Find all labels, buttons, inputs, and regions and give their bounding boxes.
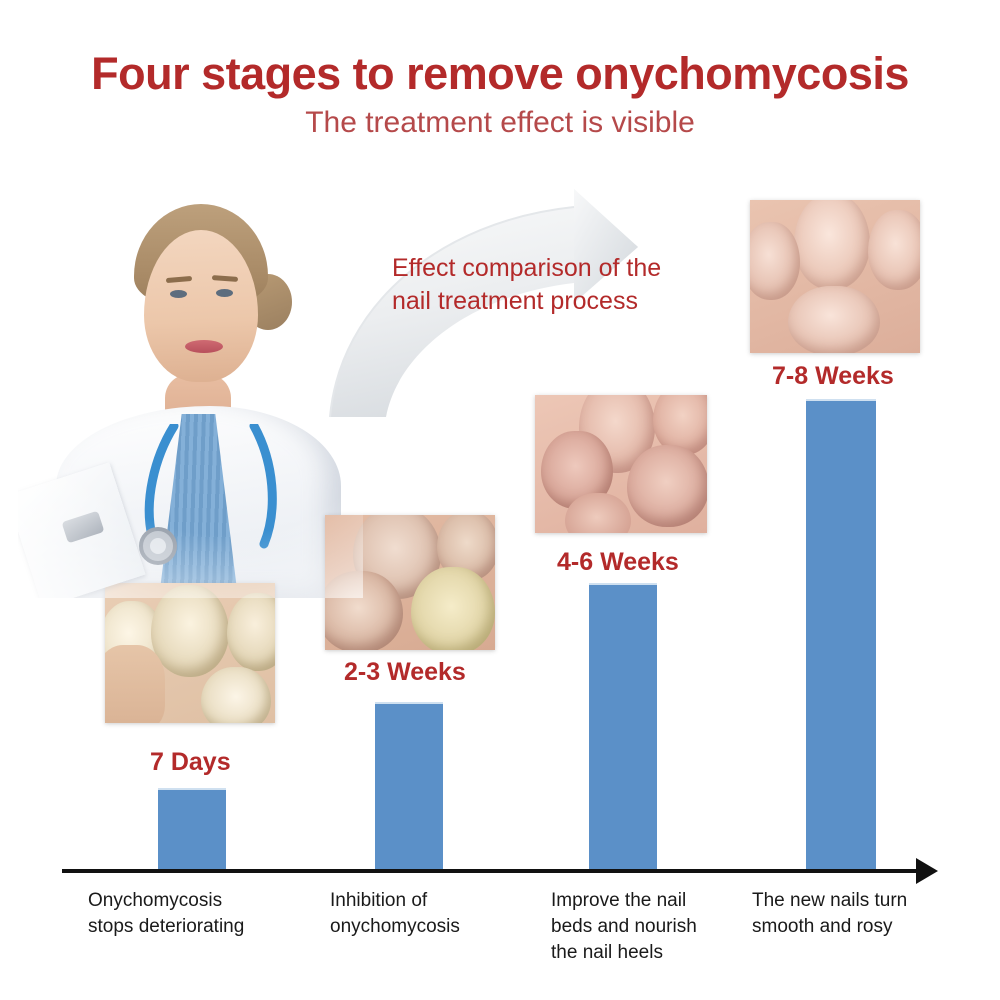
infographic-canvas: Four stages to remove onychomycosis The … [0,0,1000,1000]
stage-label-3: 4-6 Weeks [557,548,679,577]
nail-photo-stage-4 [750,200,920,353]
bar-stage-4 [806,399,876,873]
axis-arrowhead-icon [916,858,938,884]
doctor-photo [18,178,363,598]
caption-stage-3: Improve the nail beds and nourish the na… [551,888,741,966]
page-subtitle: The treatment effect is visible [0,106,1000,140]
stage-label-4: 7-8 Weeks [772,362,894,391]
nail-photo-stage-3 [535,395,707,533]
caption-stage-2-line1: Inhibition of [330,890,427,911]
caption-stage-3-line3: the nail heels [551,942,663,963]
bar-stage-3 [589,583,657,873]
page-title: Four stages to remove onychomycosis [0,48,1000,100]
arrow-annotation: Effect comparison of the nail treatment … [392,252,692,318]
caption-stage-4-line1: The new nails turn [752,890,907,911]
arrow-annotation-line1: Effect comparison of the [392,254,661,282]
bar-stage-2 [375,702,443,873]
caption-stage-1-line1: Onychomycosis [88,890,222,911]
arrow-annotation-line2: nail treatment process [392,287,638,315]
nail-photo-stage-1 [105,583,275,723]
caption-stage-3-line2: beds and nourish [551,916,697,937]
caption-stage-1: Onychomycosis stops deteriorating [88,888,278,940]
stage-label-2: 2-3 Weeks [344,658,466,687]
caption-stage-4: The new nails turn smooth and rosy [752,888,952,940]
doctor-eye-right [216,289,233,297]
bar-stage-1 [158,788,226,873]
caption-stage-2-line2: onychomycosis [330,916,460,937]
nail-photo-stage-2 [325,515,495,650]
caption-stage-1-line2: stops deteriorating [88,916,244,937]
caption-stage-4-line2: smooth and rosy [752,916,892,937]
doctor-lips [185,340,223,353]
stage-label-1: 7 Days [150,748,231,777]
caption-stage-3-line1: Improve the nail [551,890,686,911]
chart-axis-line [62,869,924,873]
doctor-eye-left [170,290,187,298]
caption-stage-2: Inhibition of onychomycosis [330,888,520,940]
